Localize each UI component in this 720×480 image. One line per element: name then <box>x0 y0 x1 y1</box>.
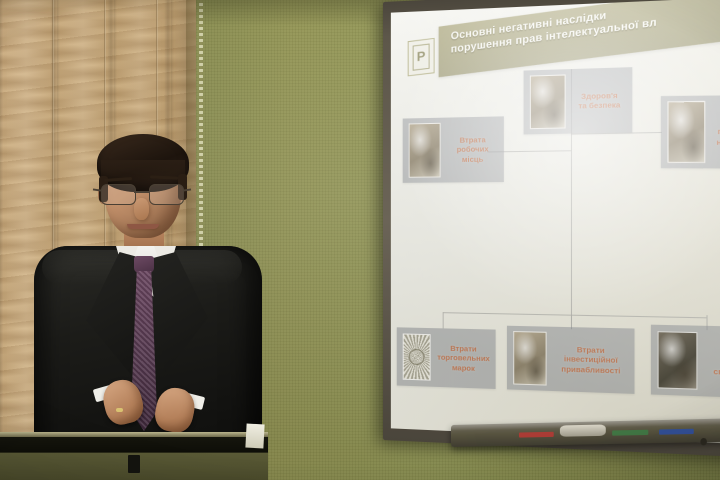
wedding-ring-icon <box>116 408 123 412</box>
label-line: надходжень <box>712 137 720 147</box>
monument-photo-icon <box>667 101 705 163</box>
glasses-temple-right <box>183 188 191 191</box>
slide-logo: P <box>408 38 435 77</box>
connector-bottom-bus <box>443 312 707 318</box>
desk-edge <box>0 432 268 437</box>
lens-left <box>101 184 136 205</box>
glasses-bridge <box>134 191 149 193</box>
slide-box-bottom-3: Втрати для споживачів <box>651 325 720 399</box>
label-line: місць <box>447 154 499 164</box>
logo-letter: P <box>413 43 430 70</box>
label-line: Втрати <box>712 116 720 126</box>
slide-box-right-label: Втрати податкових надходжень <box>710 114 720 149</box>
label-line: привабливості <box>553 364 629 376</box>
slide-box-bottom-2: Втрати інвестиційної привабливості <box>507 326 635 394</box>
photo-scene: Основні негативні наслідки порушення пра… <box>0 0 720 480</box>
blue-marker-icon <box>659 429 694 435</box>
board-eraser-icon <box>560 424 606 436</box>
slide-box-left: Втрата робочих місць <box>403 116 504 183</box>
slide-box-right: Втрати податкових надходжень <box>661 95 720 169</box>
label-line: та безпека <box>572 100 627 111</box>
label-line: торговельних <box>437 353 491 364</box>
slide-title: Основні негативні наслідки порушення пра… <box>441 0 720 78</box>
slide-box-left-label: Втрата робочих місць <box>445 132 504 166</box>
tie-knot <box>134 256 154 273</box>
red-marker-icon <box>519 432 554 438</box>
desk-object <box>128 455 140 473</box>
green-marker-icon <box>612 430 648 436</box>
slide-box-bottom-3-label: Втрати для споживачів <box>702 344 720 381</box>
projected-slide: Основні негативні наслідки порушення пра… <box>391 0 720 444</box>
lens-right <box>149 184 184 205</box>
glasses-temple-left <box>93 188 101 191</box>
mouth <box>127 224 159 229</box>
slide-box-bottom-1-label: Втрати торговельних марок <box>435 341 496 376</box>
slide-box-top: Здоров'я та безпека <box>524 67 633 134</box>
presenter <box>28 134 264 480</box>
slide-box-bottom-2-label: Втрати інвестиційної привабливості <box>551 342 635 378</box>
paper-sheet <box>245 424 264 449</box>
label-line: податкових <box>712 127 720 137</box>
seal-emblem-icon <box>403 333 431 380</box>
slide-box-top-label: Здоров'я та безпека <box>570 88 632 114</box>
connector-drop-1 <box>443 312 444 328</box>
medicine-photo-icon <box>530 74 566 129</box>
slide-box-bottom-1: Втрати торговельних марок <box>397 327 496 389</box>
nose <box>134 198 149 220</box>
whiteboard-surface: Основні негативні наслідки порушення пра… <box>391 0 720 444</box>
whiteboard: Основні негативні наслідки порушення пра… <box>383 0 720 457</box>
animal-photo-icon <box>658 331 698 390</box>
label-line: марок <box>437 362 491 373</box>
building-photo-icon <box>409 123 441 178</box>
label-line: споживачів <box>704 366 720 378</box>
people-photo-icon <box>513 331 546 386</box>
